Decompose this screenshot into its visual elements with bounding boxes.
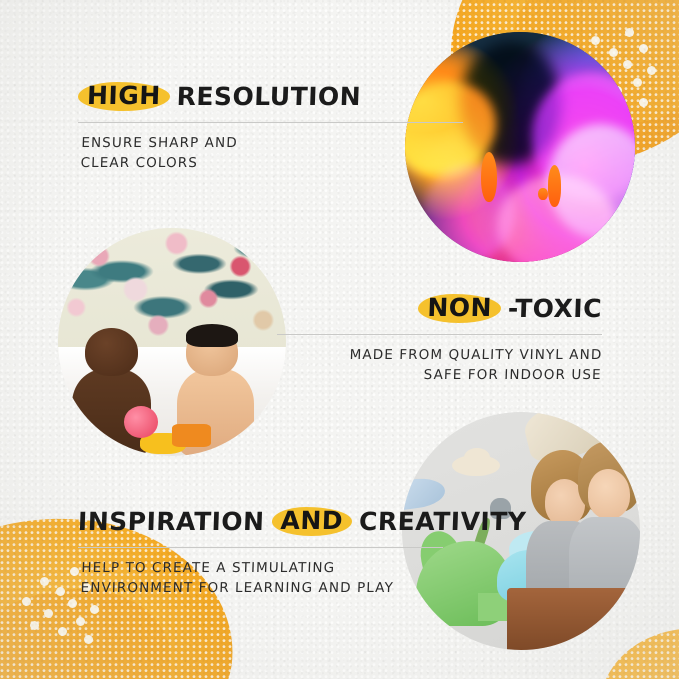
abstract-wave-violet: [423, 165, 515, 262]
heading-highlight-word: NON: [418, 292, 502, 324]
baby-right-hair: [186, 324, 238, 347]
divider-line-high-resolution: [78, 122, 463, 123]
heading-high-resolution: HIGH RESOLUTION: [77, 80, 463, 112]
feature-non-toxic: NON -TOXIC MADE FROM QUALITY VINYL AND S…: [277, 292, 602, 385]
heading-rest-word: RESOLUTION: [176, 82, 361, 111]
body-text-inspiration: HELP TO CREATE A STIMULATING ENVIRONMENT…: [77, 558, 443, 598]
feature-inspiration-and-creativity: INSPIRATION AND CREATIVITY HELP TO CREAT…: [78, 505, 443, 598]
toy-pink-ball: [124, 406, 158, 438]
heading-inspiration-and-creativity: INSPIRATION AND CREATIVITY: [77, 505, 443, 537]
heading-highlight-word: HIGH: [77, 80, 170, 112]
abstract-drip-3: [538, 188, 547, 200]
body-text-non-toxic: MADE FROM QUALITY VINYL AND SAFE FOR IND…: [276, 345, 602, 385]
heading-rest-word: CREATIVITY: [359, 507, 527, 536]
infographic-poster: HIGH RESOLUTION ENSURE SHARP AND CLEAR C…: [0, 0, 679, 679]
child-right-face: [588, 469, 631, 519]
heading-rest-word: -TOXIC: [507, 294, 602, 323]
divider-line-non-toxic: [277, 334, 602, 335]
feature-high-resolution: HIGH RESOLUTION ENSURE SHARP AND CLEAR C…: [78, 80, 463, 173]
divider-line-inspiration: [78, 547, 443, 548]
wooden-table: [507, 588, 640, 650]
heading-non-toxic: NON -TOXIC: [276, 292, 602, 324]
heading-prefix-word: INSPIRATION: [77, 507, 265, 536]
abstract-drip-2: [548, 165, 562, 206]
body-text-high-resolution: ENSURE SHARP AND CLEAR COLORS: [77, 133, 463, 173]
image-two-babies-floral-wallpaper: [58, 228, 286, 456]
heading-highlight-word: AND: [271, 505, 353, 537]
cloud-decal-2: [464, 448, 490, 467]
baby-left-head: [85, 328, 137, 376]
abstract-drip-1: [481, 152, 497, 203]
toy-orange: [172, 424, 211, 447]
